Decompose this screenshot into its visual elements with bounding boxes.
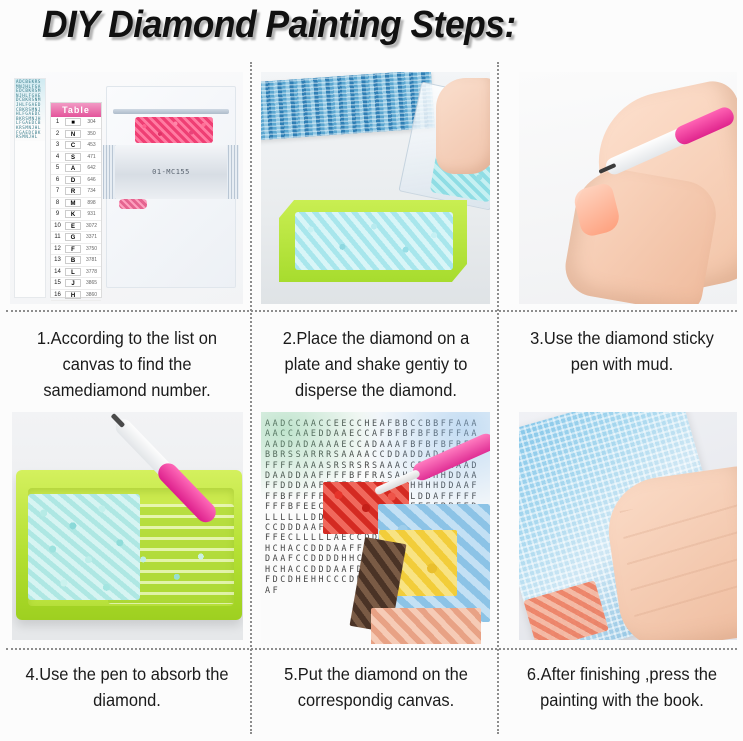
step-photo-4 (12, 412, 243, 640)
row-dmc-code: 3750 (82, 246, 101, 252)
row-dmc-code: 471 (82, 154, 101, 160)
step-caption-2: 2.Place the diamond on a plate and shake… (269, 325, 483, 403)
peach-diamond-region (371, 608, 481, 644)
row-number: 14 (51, 269, 64, 275)
spilled-diamonds (119, 199, 147, 209)
row-number: 8 (51, 200, 64, 206)
row-symbol: E (65, 222, 81, 230)
hand-holding-bag (436, 78, 490, 174)
row-dmc-code: 3865 (82, 280, 101, 286)
row-symbol: S (65, 153, 81, 161)
row-symbol: L (65, 268, 81, 276)
row-number: 3 (51, 142, 64, 148)
table-row: 10E3072 (51, 221, 101, 233)
step-photo-1: ADCBEKRSMNJHLFGAEDCBKRSMNJHLFGAEDCBKRSNM… (10, 72, 243, 304)
table-row: 4S471 (51, 152, 101, 164)
step-caption-4: 4.Use the pen to absorb the diamond. (21, 661, 233, 713)
pink-diamonds (135, 117, 213, 143)
table-row: 2N350 (51, 129, 101, 141)
page-title: DIY Diamond Painting Steps: (42, 4, 516, 47)
row-dmc-code: 453 (82, 142, 101, 148)
row-dmc-code: 304 (82, 119, 101, 125)
row-number: 1 (51, 119, 64, 125)
row-number: 10 (51, 223, 64, 229)
aligned-diamonds (124, 542, 220, 600)
table-row: 6D646 (51, 175, 101, 187)
infographic-sheet: DIY Diamond Painting Steps: ADCBEKRSMNJH… (0, 0, 743, 741)
horizontal-divider-1 (6, 310, 737, 312)
table-row: 11G3371 (51, 232, 101, 244)
row-dmc-code: 734 (82, 188, 101, 194)
bag-label: 01-MC155 (115, 145, 227, 199)
row-symbol: K (65, 210, 81, 218)
row-number: 16 (51, 292, 64, 298)
vertical-divider-2 (497, 62, 499, 734)
row-number: 12 (51, 246, 64, 252)
row-dmc-code: 3072 (82, 223, 101, 229)
row-symbol: ■ (65, 118, 81, 126)
row-dmc-code: 350 (82, 131, 101, 137)
row-symbol: C (65, 141, 81, 149)
row-number: 11 (51, 234, 64, 240)
row-dmc-code: 931 (82, 211, 101, 217)
row-dmc-code: 3781 (82, 257, 101, 263)
row-symbol: M (65, 199, 81, 207)
row-dmc-code: 3860 (82, 292, 101, 298)
step-caption-1: 1.According to the list on canvas to fin… (21, 325, 233, 403)
row-symbol: F (65, 245, 81, 253)
bag-seal (113, 109, 229, 114)
table-row: 16H3860 (51, 290, 101, 302)
table-row: 3C453 (51, 140, 101, 152)
table-row: 9K931 (51, 209, 101, 221)
diamond-bag: 01-MC155 (106, 86, 236, 288)
table-row: 1■304 (51, 117, 101, 129)
step-caption-6: 6.After finishing ,press the painting wi… (515, 661, 729, 713)
table-row: 15J3865 (51, 278, 101, 290)
row-symbol: G (65, 233, 81, 241)
table-row: 14L3778 (51, 267, 101, 279)
canvas-accent-region (523, 580, 608, 640)
bag-label-text: 01-MC155 (152, 168, 190, 176)
row-symbol: H (65, 291, 81, 299)
step-caption-5: 5.Put the diamond on the correspondig ca… (269, 661, 483, 713)
row-number: 9 (51, 211, 64, 217)
row-symbol: R (65, 187, 81, 195)
row-symbol: A (65, 164, 81, 172)
table-row: 7R734 (51, 186, 101, 198)
step-photo-2 (261, 72, 490, 304)
step-caption-3: 3.Use the diamond sticky pen with mud. (515, 325, 729, 377)
row-symbol: N (65, 130, 81, 138)
row-dmc-code: 898 (82, 200, 101, 206)
row-number: 2 (51, 131, 64, 137)
title-bar: DIY Diamond Painting Steps: (0, 0, 743, 58)
horizontal-divider-2 (6, 648, 737, 650)
bag-side-right (225, 145, 239, 199)
row-number: 7 (51, 188, 64, 194)
row-number: 5 (51, 165, 64, 171)
row-dmc-code: 646 (82, 177, 101, 183)
table-body: 1■3042N3503C4534S4715A6426D6467R7348M898… (51, 117, 101, 301)
canvas-symbol-column: ADCBEKRSMNJHLFGAEDCBKRSMNJHLFGAEDCBKRSNM… (15, 79, 45, 141)
row-symbol: D (65, 176, 81, 184)
table-row: 13B3781 (51, 255, 101, 267)
step-photo-6 (519, 412, 737, 640)
row-dmc-code: 642 (82, 165, 101, 171)
row-number: 15 (51, 280, 64, 286)
table-row: 8M898 (51, 198, 101, 210)
row-dmc-code: 3778 (82, 269, 101, 275)
table-row: 12F3750 (51, 244, 101, 256)
row-number: 13 (51, 257, 64, 263)
tray-diamonds (295, 212, 453, 270)
row-number: 4 (51, 154, 64, 160)
table-row: 5A642 (51, 163, 101, 175)
color-code-table: Table 1■3042N3503C4534S4715A6426D6467R73… (50, 102, 102, 298)
printed-canvas-strip: ADCBEKRSMNJHLFGAEDCBKRSMNJHLFGAEDCBKRSNM… (14, 78, 46, 298)
row-number: 6 (51, 177, 64, 183)
row-dmc-code: 3371 (82, 234, 101, 240)
table-header: Table (51, 103, 101, 117)
step-photo-5: AADCCAACCEECCHEAFBBCCBBFFAAAAACCAAEDDAAE… (261, 412, 490, 644)
step-photo-3 (519, 72, 737, 304)
vertical-divider-1 (250, 62, 252, 734)
row-symbol: B (65, 256, 81, 264)
row-symbol: J (65, 279, 81, 287)
